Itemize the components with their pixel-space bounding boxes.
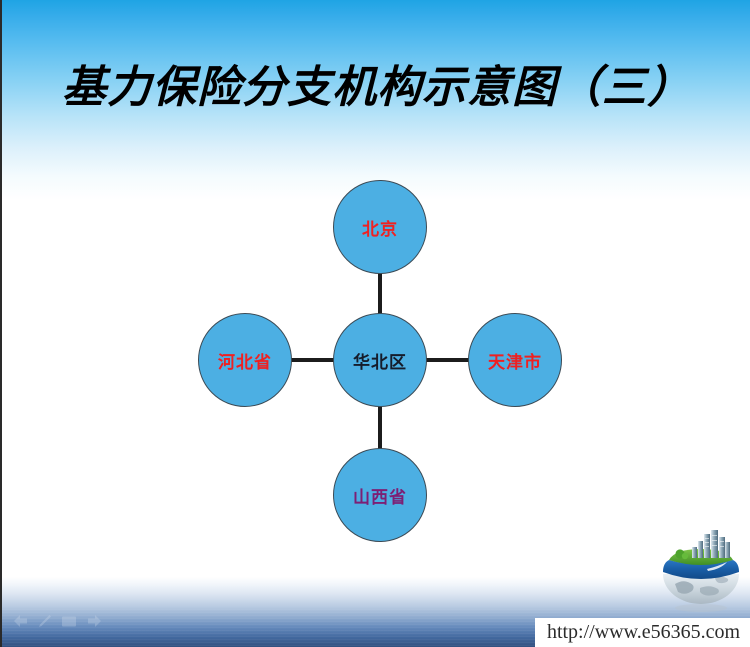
- globe-city-logo: [655, 528, 747, 620]
- page-title: 基力保险分支机构示意图（三）: [2, 62, 750, 114]
- edge-center-to-top: [378, 268, 382, 318]
- menu-box-icon[interactable]: [61, 615, 77, 628]
- slide-nav-controls[interactable]: [12, 611, 112, 631]
- node-tianjin-label: 天津市: [488, 348, 542, 373]
- node-huabei-region-label: 华北区: [353, 348, 407, 373]
- node-tianjin[interactable]: 天津市: [468, 313, 562, 407]
- node-beijing[interactable]: 北京: [333, 180, 427, 274]
- edge-center-to-left: [286, 358, 336, 362]
- watermark-url-plate: http://www.e56365.com: [535, 618, 750, 647]
- node-shanxi-label: 山西省: [353, 483, 407, 508]
- node-beijing-label: 北京: [362, 215, 398, 240]
- node-shanxi[interactable]: 山西省: [333, 448, 427, 542]
- pen-icon[interactable]: [38, 614, 52, 628]
- edge-center-to-right: [422, 358, 472, 362]
- globe-city-icon: [655, 528, 747, 620]
- presentation-slide: 基力保险分支机构示意图（三） 北京 河北省 华北区 天津市 山西省: [0, 0, 750, 647]
- node-hebei[interactable]: 河北省: [198, 313, 292, 407]
- node-huabei-region[interactable]: 华北区: [333, 313, 427, 407]
- node-hebei-label: 河北省: [218, 348, 272, 373]
- right-arrow-icon[interactable]: [86, 614, 103, 628]
- watermark-url-text: http://www.e56365.com: [547, 621, 740, 644]
- left-arrow-icon[interactable]: [12, 614, 29, 628]
- edge-center-to-bottom: [378, 402, 382, 452]
